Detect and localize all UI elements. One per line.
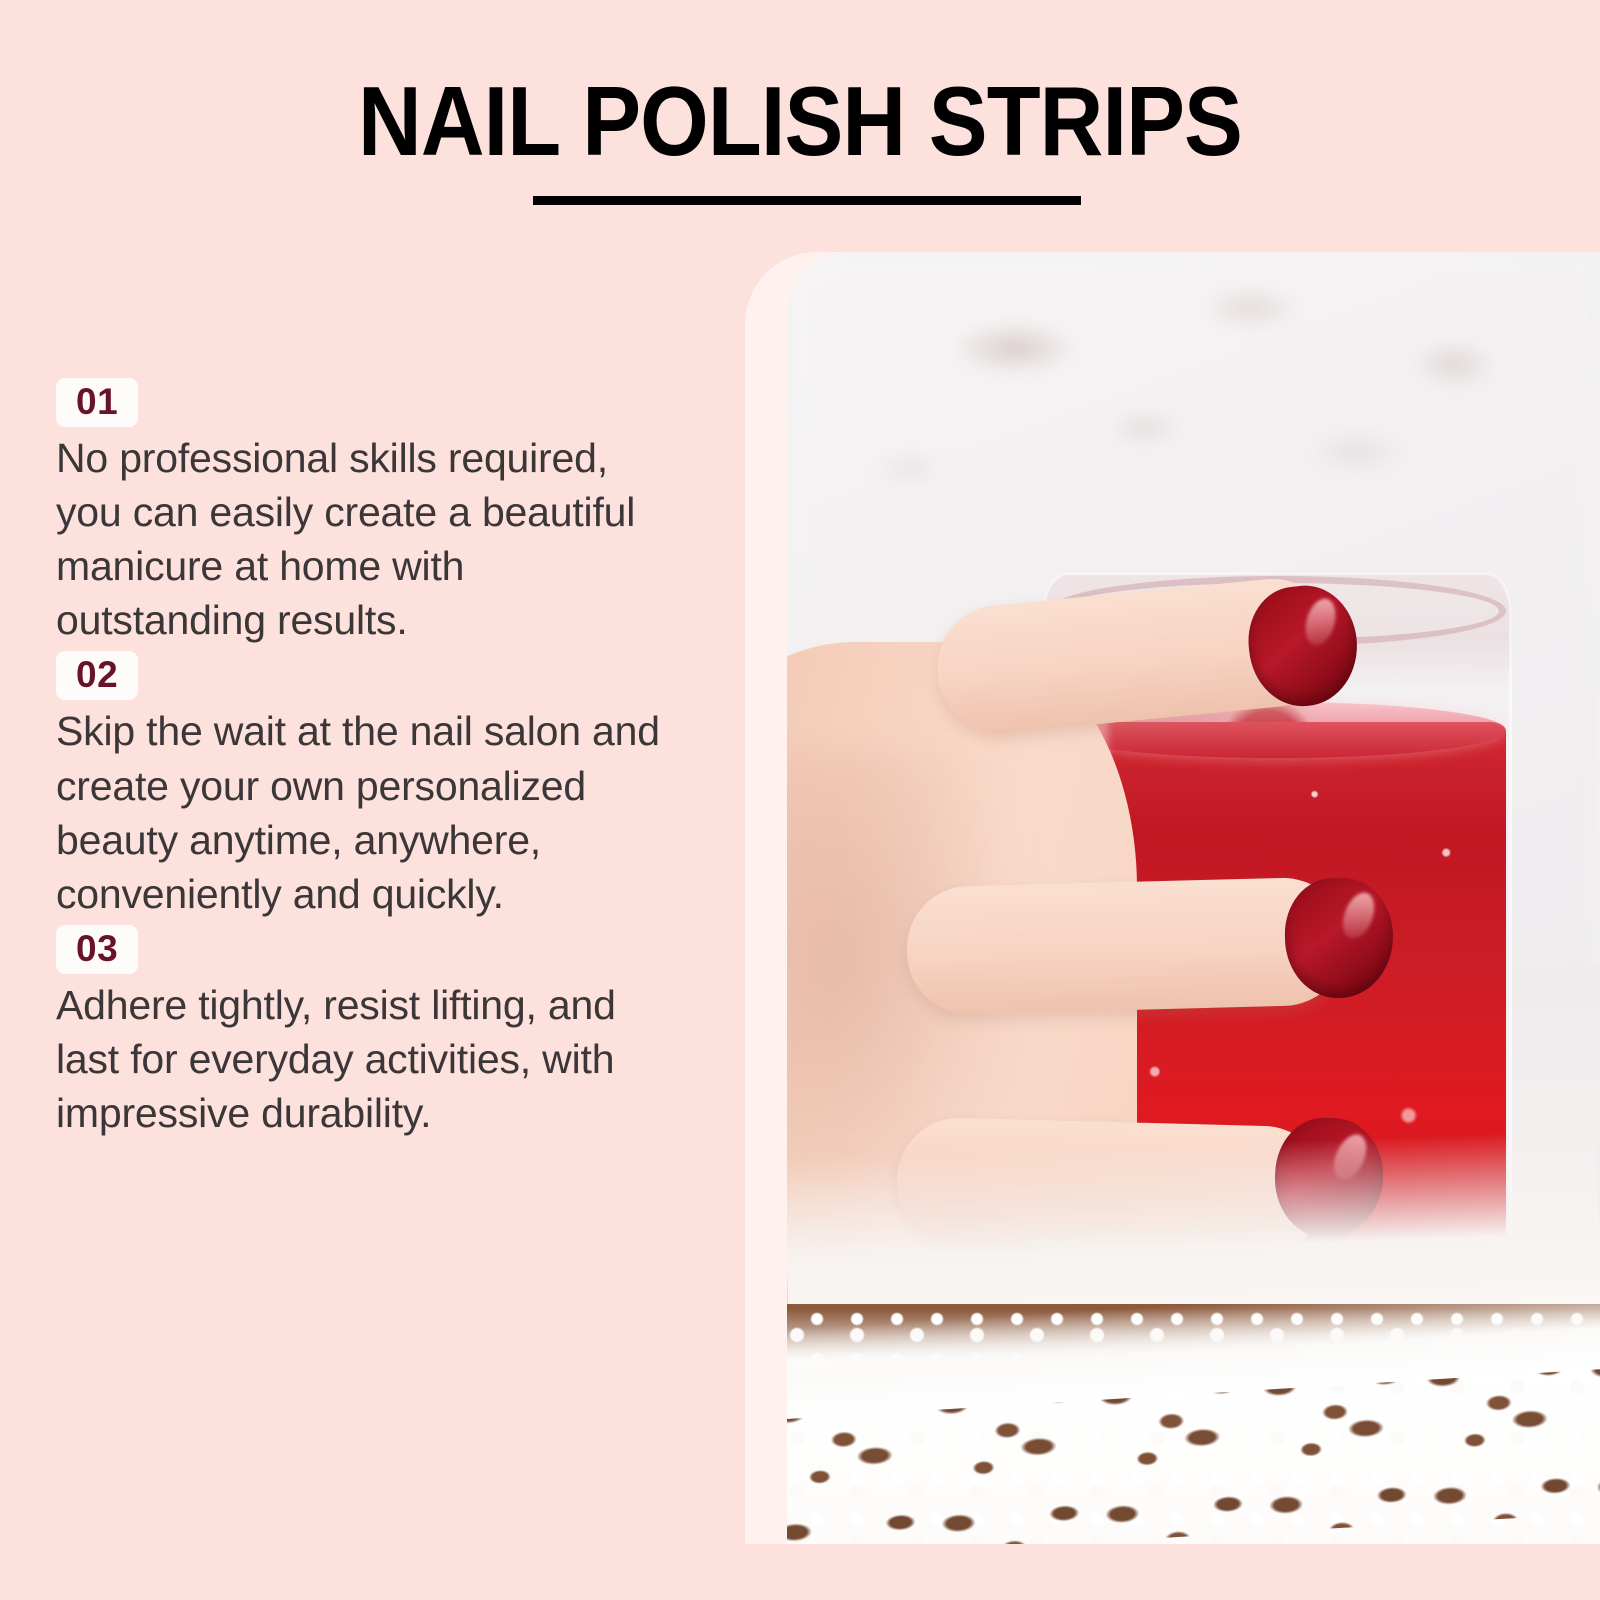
list-item: 02 Skip the wait at the nail salon and c… [56, 651, 696, 920]
title-underline-rule [533, 196, 1081, 205]
finger-middle [905, 876, 1348, 1015]
list-item: 03 Adhere tightly, resist lifting, and l… [56, 925, 696, 1140]
photo-inner [787, 252, 1600, 1544]
feature-description: Skip the wait at the nail salon and crea… [56, 704, 676, 920]
feature-description: Adhere tightly, resist lifting, and last… [56, 978, 676, 1140]
list-item: 01 No professional skills required, you … [56, 378, 696, 647]
feature-list: 01 No professional skills required, you … [56, 378, 696, 1144]
feature-description: No professional skills required, you can… [56, 431, 676, 647]
feature-number-badge: 01 [56, 378, 138, 427]
page-title: NAIL POLISH STRIPS [80, 72, 1520, 170]
product-photo [787, 252, 1600, 1544]
feature-number-badge: 03 [56, 925, 138, 974]
feature-number-badge: 02 [56, 651, 138, 700]
poster-canvas: NAIL POLISH STRIPS 01 No professional sk… [0, 0, 1600, 1600]
